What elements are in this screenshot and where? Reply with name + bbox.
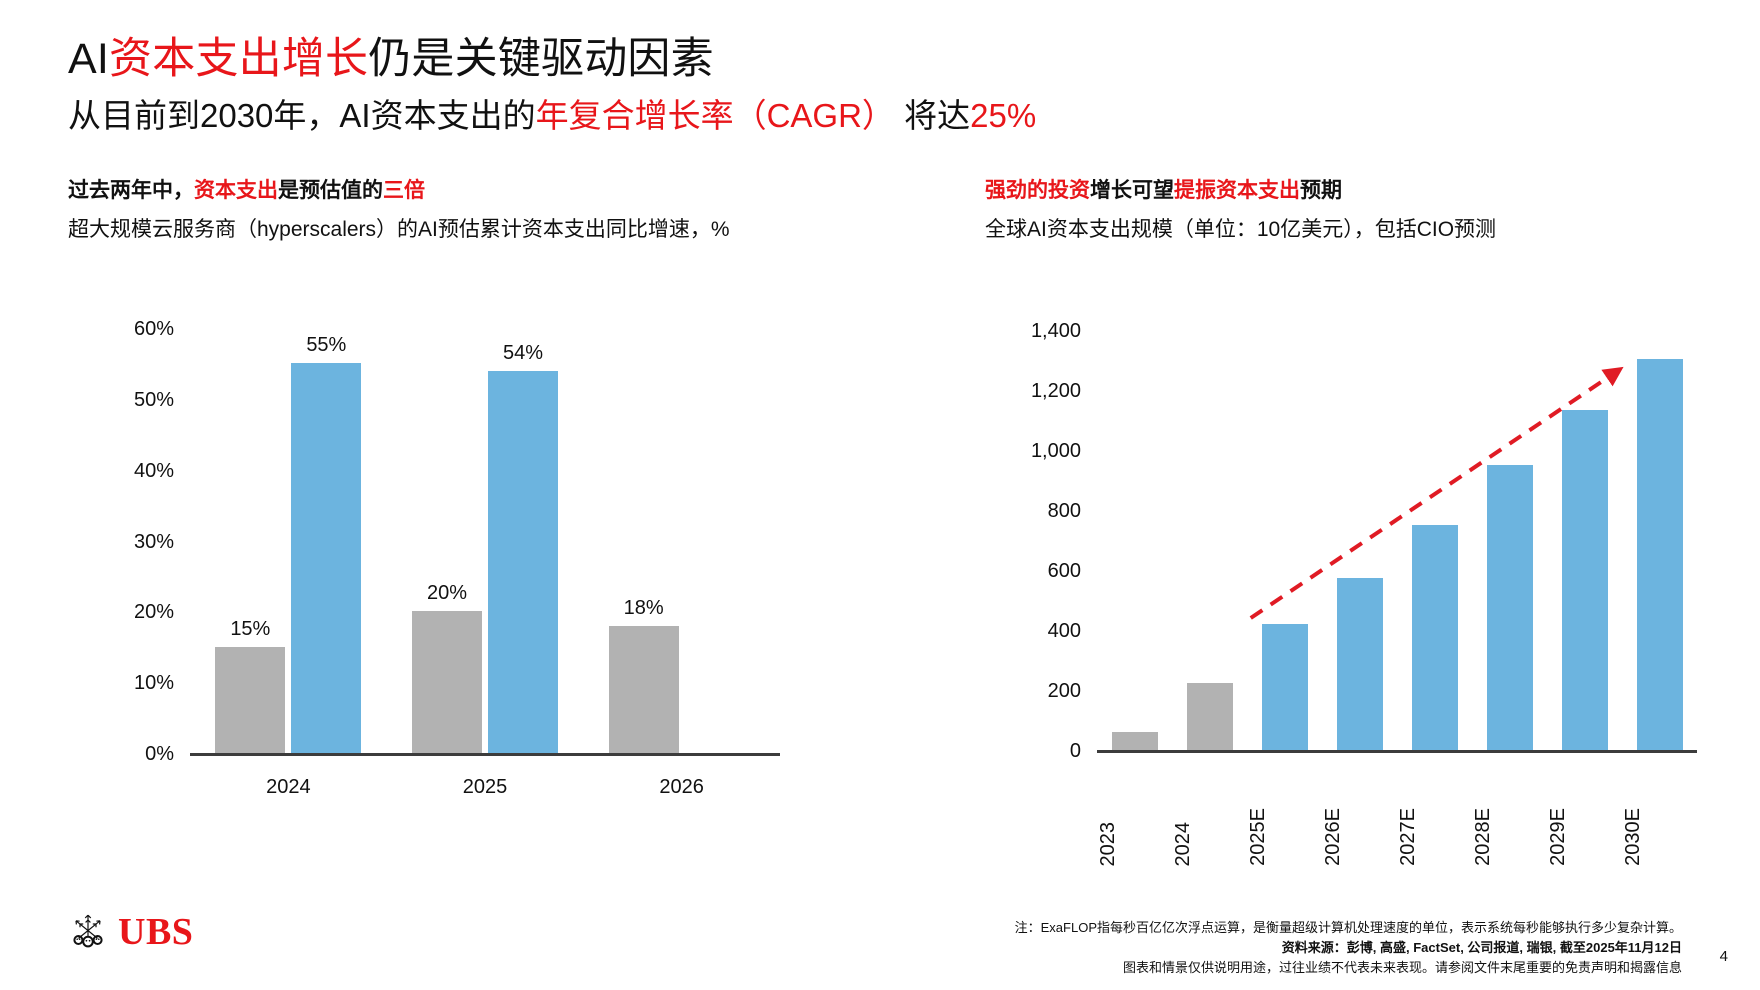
right-chart-bar-2029E [1562,410,1608,751]
right-chart-xtick-2028E: 2028E [1472,808,1547,866]
page-title: AI资本支出增长仍是关键驱动因素 [68,34,1708,85]
right-chart-xtick-2030E: 2030E [1622,808,1697,866]
left-chart-ytick-0%: 0% [84,743,174,766]
subtitle-run-2: 将达 [895,97,970,134]
right-chart-plot-area: 02004006008001,0001,2001,400202320242025… [1097,330,1697,750]
footnote-line-2: 图表和情景仅供说明用途，过往业绩不代表未来表现。请参阅文件末尾重要的免责声明和揭… [822,958,1682,978]
left-chart-label-2025-实际/最新预估: 54% [476,342,570,365]
right-chart-ytick-800: 800 [991,500,1081,523]
chart-global-ai-capex: 02004006008001,0001,2001,400202320242025… [985,300,1725,860]
footnotes: 注：ExaFLOP指每秒百亿亿次浮点运算，是衡量超级计算机处理速度的单位，表示系… [822,918,1682,978]
right-chart-bar-2026E [1337,578,1383,751]
left-headline-run-0: 过去两年中， [68,179,194,202]
left-chart-ytick-20%: 20% [84,601,174,624]
left-headline-run-1: 资本支出 [194,179,278,202]
right-headline-run-1: 增长可望 [1090,179,1174,202]
right-chart-bar-2027E [1412,525,1458,750]
right-chart-bar-2023 [1112,732,1158,750]
right-chart-ytick-0: 0 [991,740,1081,763]
left-chart-ytick-50%: 50% [84,389,174,412]
page-number: 4 [1720,948,1728,965]
left-chart-ytick-10%: 10% [84,672,174,695]
left-chart-ytick-40%: 40% [84,460,174,483]
ubs-keys-icon [68,912,108,952]
right-chart-xtick-2023: 2023 [1097,822,1172,867]
left-chart-label-2024-初始预估: 15% [203,618,297,641]
subtitle-run-3: 25% [970,97,1036,134]
left-chart-xtick-2024: 2024 [190,776,387,799]
left-chart-label-2024-实际/最新预估: 55% [279,334,373,357]
right-chart-xtick-2026E: 2026E [1322,808,1397,866]
left-chart-bar-2024-实际/最新预估 [291,363,361,753]
right-chart-xtick-2025E: 2025E [1247,808,1322,866]
title-run-2: 仍是关键驱动因素 [368,35,714,83]
slide-root: AI资本支出增长仍是关键驱动因素 从目前到2030年，AI资本支出的年复合增长率… [0,0,1760,990]
subtitle-run-0: 从目前到2030年，AI资本支出的 [68,97,536,134]
right-chart-ytick-1,400: 1,400 [991,320,1081,343]
right-chart-bar-2024 [1187,683,1233,751]
ubs-wordmark: UBS [118,913,193,951]
right-chart-ytick-600: 600 [991,560,1081,583]
page-subtitle: 从目前到2030年，AI资本支出的年复合增长率（CAGR） 将达25% [68,95,1708,138]
title-block: AI资本支出增长仍是关键驱动因素 从目前到2030年，AI资本支出的年复合增长率… [68,34,1708,138]
left-chart-xtick-2026: 2026 [583,776,780,799]
footnote-line-1: 资料来源：彭博, 高盛, FactSet, 公司报道, 瑞银, 截至2025年1… [822,938,1682,958]
right-chart-ytick-1,200: 1,200 [991,380,1081,403]
right-panel-headline: 强劲的投资增长可望提振资本支出预期 [985,178,1705,204]
chart-hyperscaler-capex-growth: 0%10%20%30%40%50%60%15%55%202420%54%2025… [68,300,788,820]
left-headline-run-3: 三倍 [383,179,425,202]
right-chart-bar-2025E [1262,624,1308,750]
right-chart-bar-2030E [1637,359,1683,751]
right-chart-ytick-400: 400 [991,620,1081,643]
left-panel-heading: 过去两年中，资本支出是预估值的三倍 超大规模云服务商（hyperscalers）… [68,178,858,245]
right-chart-xtick-2029E: 2029E [1547,808,1622,866]
left-panel-headline: 过去两年中，资本支出是预估值的三倍 [68,178,858,204]
right-chart-ytick-200: 200 [991,680,1081,703]
left-chart-ytick-60%: 60% [84,318,174,341]
left-chart-plot-area: 0%10%20%30%40%50%60%15%55%202420%54%2025… [190,328,780,753]
right-chart-xtick-2024: 2024 [1172,822,1247,867]
right-headline-run-0: 强劲的投资 [985,179,1090,202]
left-chart-bar-2025-实际/最新预估 [488,371,558,754]
left-panel-subhead: 超大规模云服务商（hyperscalers）的AI预估累计资本支出同比增速，% [68,216,858,245]
right-chart-bar-2028E [1487,465,1533,750]
right-panel-heading: 强劲的投资增长可望提振资本支出预期 全球AI资本支出规模（单位：10亿美元），包… [985,178,1705,245]
left-chart-xtick-2025: 2025 [387,776,584,799]
subtitle-run-1: 年复合增长率（CAGR） [536,97,895,134]
footnote-line-0: 注：ExaFLOP指每秒百亿亿次浮点运算，是衡量超级计算机处理速度的单位，表示系… [822,918,1682,938]
title-run-0: AI [68,35,109,83]
left-chart-x-axis [190,753,780,756]
left-chart-bar-2025-初始预估 [412,611,482,753]
left-headline-run-2: 是预估值的 [278,179,383,202]
left-chart-bar-2026-初始预估 [609,626,679,754]
right-headline-run-3: 预期 [1300,179,1342,202]
right-chart-ytick-1,000: 1,000 [991,440,1081,463]
title-run-1: 资本支出增长 [109,35,368,83]
right-headline-run-2: 提振资本支出 [1174,179,1300,202]
left-chart-label-2025-初始预估: 20% [400,582,494,605]
ubs-logo: UBS [68,912,193,952]
right-chart-x-axis [1097,750,1697,753]
left-chart-bar-2024-初始预估 [215,647,285,753]
right-chart-xtick-2027E: 2027E [1397,808,1472,866]
left-chart-label-2026-初始预估: 18% [597,597,691,620]
left-chart-ytick-30%: 30% [84,531,174,554]
right-panel-subhead: 全球AI资本支出规模（单位：10亿美元），包括CIO预测 [985,216,1705,245]
